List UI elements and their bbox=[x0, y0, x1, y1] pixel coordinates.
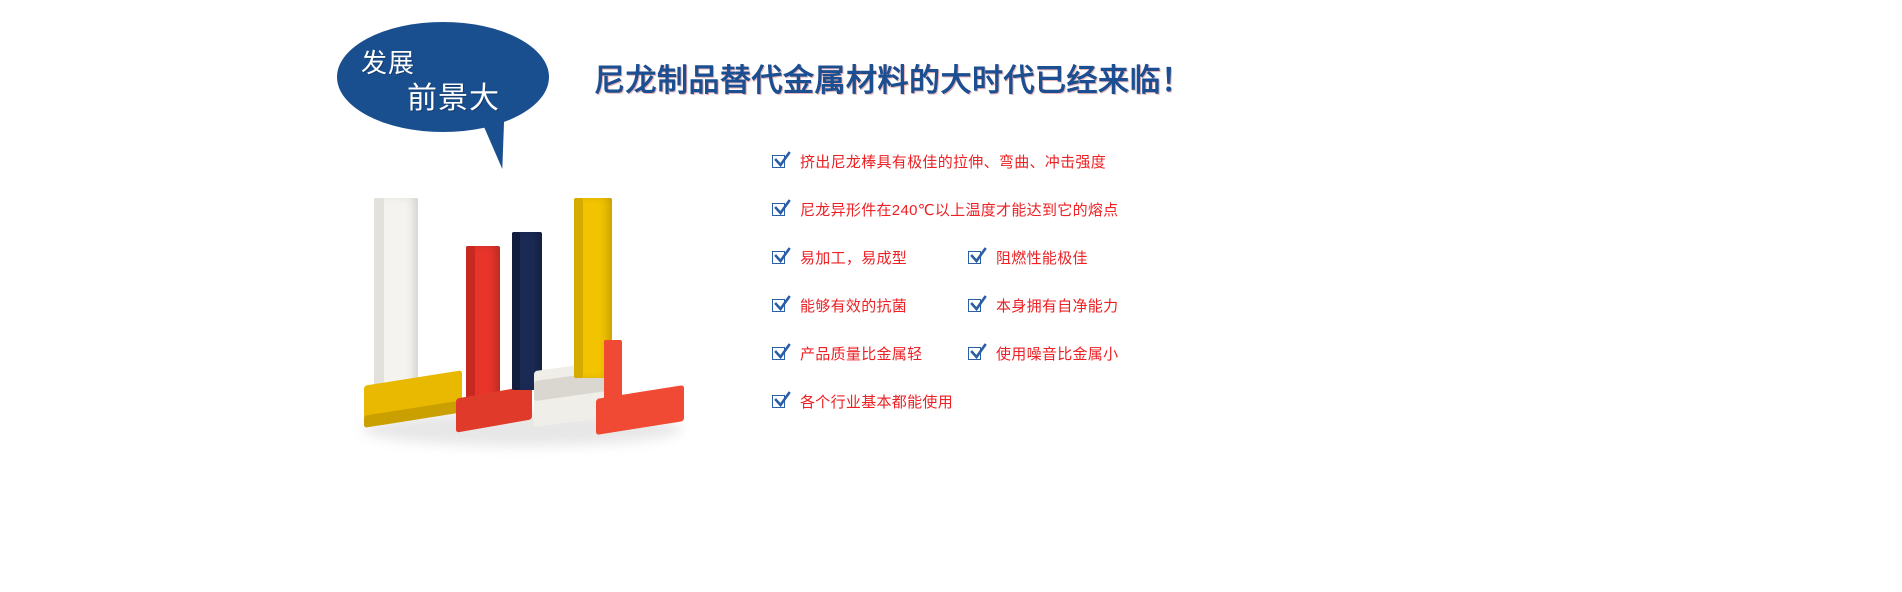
check-icon bbox=[968, 347, 983, 362]
feature-label: 尼龙异形件在240℃以上温度才能达到它的熔点 bbox=[800, 203, 1118, 218]
feature-item: 阻燃性能极佳 bbox=[968, 251, 1088, 266]
check-icon bbox=[772, 155, 787, 170]
bar-navy-edge bbox=[512, 232, 520, 390]
speech-bubble-line-2: 前景大 bbox=[407, 84, 500, 114]
feature-label: 使用噪音比金属小 bbox=[996, 347, 1118, 362]
feature-item: 产品质量比金属轻 bbox=[772, 347, 922, 362]
bar-white-tall-edge bbox=[374, 198, 384, 410]
feature-label: 易加工，易成型 bbox=[800, 251, 907, 266]
headline: 尼龙制品替代金属材料的大时代已经来临！ bbox=[594, 55, 1193, 100]
check-icon bbox=[772, 203, 787, 218]
check-icon bbox=[968, 299, 983, 314]
feature-item: 本身拥有自净能力 bbox=[968, 299, 1118, 314]
check-icon bbox=[772, 395, 787, 410]
feature-item: 挤出尼龙棒具有极佳的拉伸、弯曲、冲击强度 bbox=[772, 155, 1106, 170]
feature-item: 易加工，易成型 bbox=[772, 251, 907, 266]
speech-bubble-text: 发展 前景大 bbox=[337, 22, 549, 132]
feature-row: 各个行业基本都能使用 bbox=[772, 395, 1472, 443]
check-icon bbox=[772, 251, 787, 266]
feature-row: 产品质量比金属轻 使用噪音比金属小 bbox=[772, 347, 1472, 395]
feature-item: 使用噪音比金属小 bbox=[968, 347, 1118, 362]
feature-row: 挤出尼龙棒具有极佳的拉伸、弯曲、冲击强度 bbox=[772, 155, 1472, 203]
check-icon bbox=[772, 299, 787, 314]
promo-banner: 发展 前景大 尼龙制品替代金属材料的大时代已经来临！ bbox=[0, 0, 1902, 592]
feature-row: 能够有效的抗菌 本身拥有自净能力 bbox=[772, 299, 1472, 347]
speech-bubble-line-1: 发展 bbox=[361, 50, 415, 76]
bar-yellow-tall-edge bbox=[574, 198, 583, 378]
feature-label: 阻燃性能极佳 bbox=[996, 251, 1088, 266]
feature-item: 能够有效的抗菌 bbox=[772, 299, 907, 314]
product-photo bbox=[352, 180, 702, 470]
feature-label: 各个行业基本都能使用 bbox=[800, 395, 953, 410]
feature-label: 能够有效的抗菌 bbox=[800, 299, 907, 314]
feature-label: 本身拥有自净能力 bbox=[996, 299, 1118, 314]
speech-bubble: 发展 前景大 bbox=[337, 22, 549, 162]
feature-item: 各个行业基本都能使用 bbox=[772, 395, 953, 410]
feature-row: 尼龙异形件在240℃以上温度才能达到它的熔点 bbox=[772, 203, 1472, 251]
feature-item: 尼龙异形件在240℃以上温度才能达到它的熔点 bbox=[772, 203, 1118, 218]
feature-label: 挤出尼龙棒具有极佳的拉伸、弯曲、冲击强度 bbox=[800, 155, 1106, 170]
check-icon bbox=[968, 251, 983, 266]
feature-list: 挤出尼龙棒具有极佳的拉伸、弯曲、冲击强度 尼龙异形件在240℃以上温度才能达到它… bbox=[772, 155, 1472, 443]
feature-label: 产品质量比金属轻 bbox=[800, 347, 922, 362]
bar-red-edge bbox=[466, 246, 475, 410]
check-icon bbox=[772, 347, 787, 362]
feature-row: 易加工，易成型 阻燃性能极佳 bbox=[772, 251, 1472, 299]
